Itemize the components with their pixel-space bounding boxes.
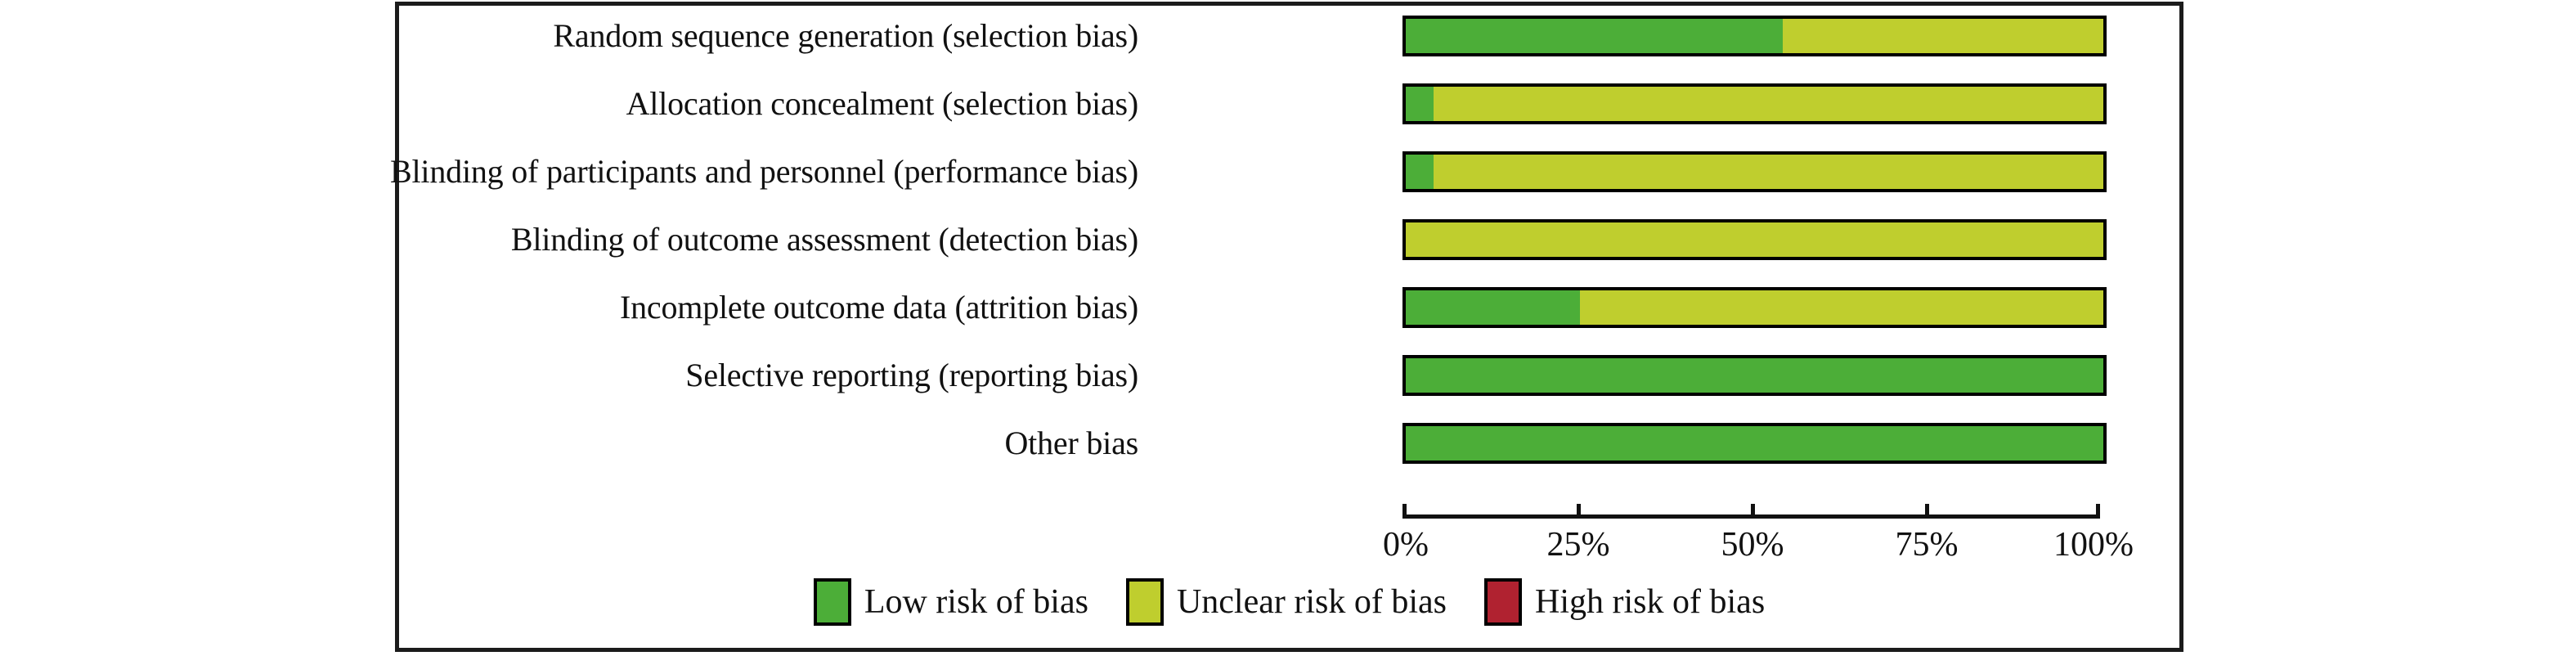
x-axis-tick-label: 25% — [1547, 526, 1610, 564]
bar-segment-low-risk — [1406, 290, 1580, 325]
bar-segment-low-risk — [1406, 19, 1783, 53]
category-label: Random sequence generation (selection bi… — [173, 19, 1138, 53]
bar-row: Random sequence generation (selection bi… — [399, 19, 2116, 53]
bar-segment-low-risk — [1406, 155, 1434, 189]
stacked-bar — [1402, 423, 2107, 464]
stacked-bar — [1402, 83, 2107, 124]
legend-item-unclear-risk: Unclear risk of bias — [1126, 578, 1447, 626]
bar-segment-unclear-risk — [1406, 222, 2103, 257]
x-axis-tick-label: 100% — [2053, 526, 2134, 564]
x-axis-tick — [1577, 504, 1581, 519]
bar-segment-unclear-risk — [1580, 290, 2103, 325]
bar-segment-unclear-risk — [1434, 155, 2103, 189]
legend: Low risk of bias Unclear risk of bias Hi… — [399, 578, 2179, 626]
bar-row: Blinding of participants and personnel (… — [399, 155, 2116, 189]
bar-segment-unclear-risk — [1783, 19, 2103, 53]
bar-row: Other bias — [399, 426, 2116, 461]
stacked-bar — [1402, 287, 2107, 328]
x-axis-tick-label: 75% — [1896, 526, 1959, 564]
bar-segment-low-risk — [1406, 426, 2103, 461]
bar-row: Blinding of outcome assessment (detectio… — [399, 222, 2116, 257]
x-axis-tick — [2096, 504, 2100, 519]
bar-row: Allocation concealment (selection bias) — [399, 87, 2116, 121]
legend-label: High risk of bias — [1535, 583, 1765, 621]
category-label: Selective reporting (reporting bias) — [173, 358, 1138, 393]
legend-swatch-unclear-risk-icon — [1126, 578, 1164, 626]
stacked-bar — [1402, 355, 2107, 396]
stacked-bar — [1402, 151, 2107, 192]
stacked-bar — [1402, 219, 2107, 260]
legend-label: Low risk of bias — [864, 583, 1088, 621]
category-label: Incomplete outcome data (attrition bias) — [173, 290, 1138, 325]
category-label: Blinding of outcome assessment (detectio… — [173, 222, 1138, 257]
bar-row: Incomplete outcome data (attrition bias) — [399, 290, 2116, 325]
category-label: Allocation concealment (selection bias) — [173, 87, 1138, 121]
risk-of-bias-figure-frame: Random sequence generation (selection bi… — [395, 2, 2183, 652]
x-axis-tick — [1925, 504, 1929, 519]
stacked-bar — [1402, 16, 2107, 56]
legend-item-low-risk: Low risk of bias — [814, 578, 1088, 626]
x-axis: 0% 25% 50% 75% 100% — [1402, 514, 2100, 515]
legend-swatch-high-risk-icon — [1484, 578, 1522, 626]
legend-swatch-low-risk-icon — [814, 578, 851, 626]
bar-segment-low-risk — [1406, 87, 1434, 121]
bar-segment-unclear-risk — [1434, 87, 2103, 121]
legend-label: Unclear risk of bias — [1177, 583, 1447, 621]
plot-area: Random sequence generation (selection bi… — [399, 6, 2179, 648]
x-axis-tick — [1751, 504, 1755, 519]
legend-item-high-risk: High risk of bias — [1484, 578, 1765, 626]
x-axis-tick-label: 0% — [1383, 526, 1429, 564]
x-axis-tick — [1402, 504, 1407, 519]
bar-row: Selective reporting (reporting bias) — [399, 358, 2116, 393]
x-axis-tick-label: 50% — [1721, 526, 1784, 564]
bar-segment-low-risk — [1406, 358, 2103, 393]
category-label: Other bias — [173, 426, 1138, 461]
category-label: Blinding of participants and personnel (… — [173, 155, 1138, 189]
